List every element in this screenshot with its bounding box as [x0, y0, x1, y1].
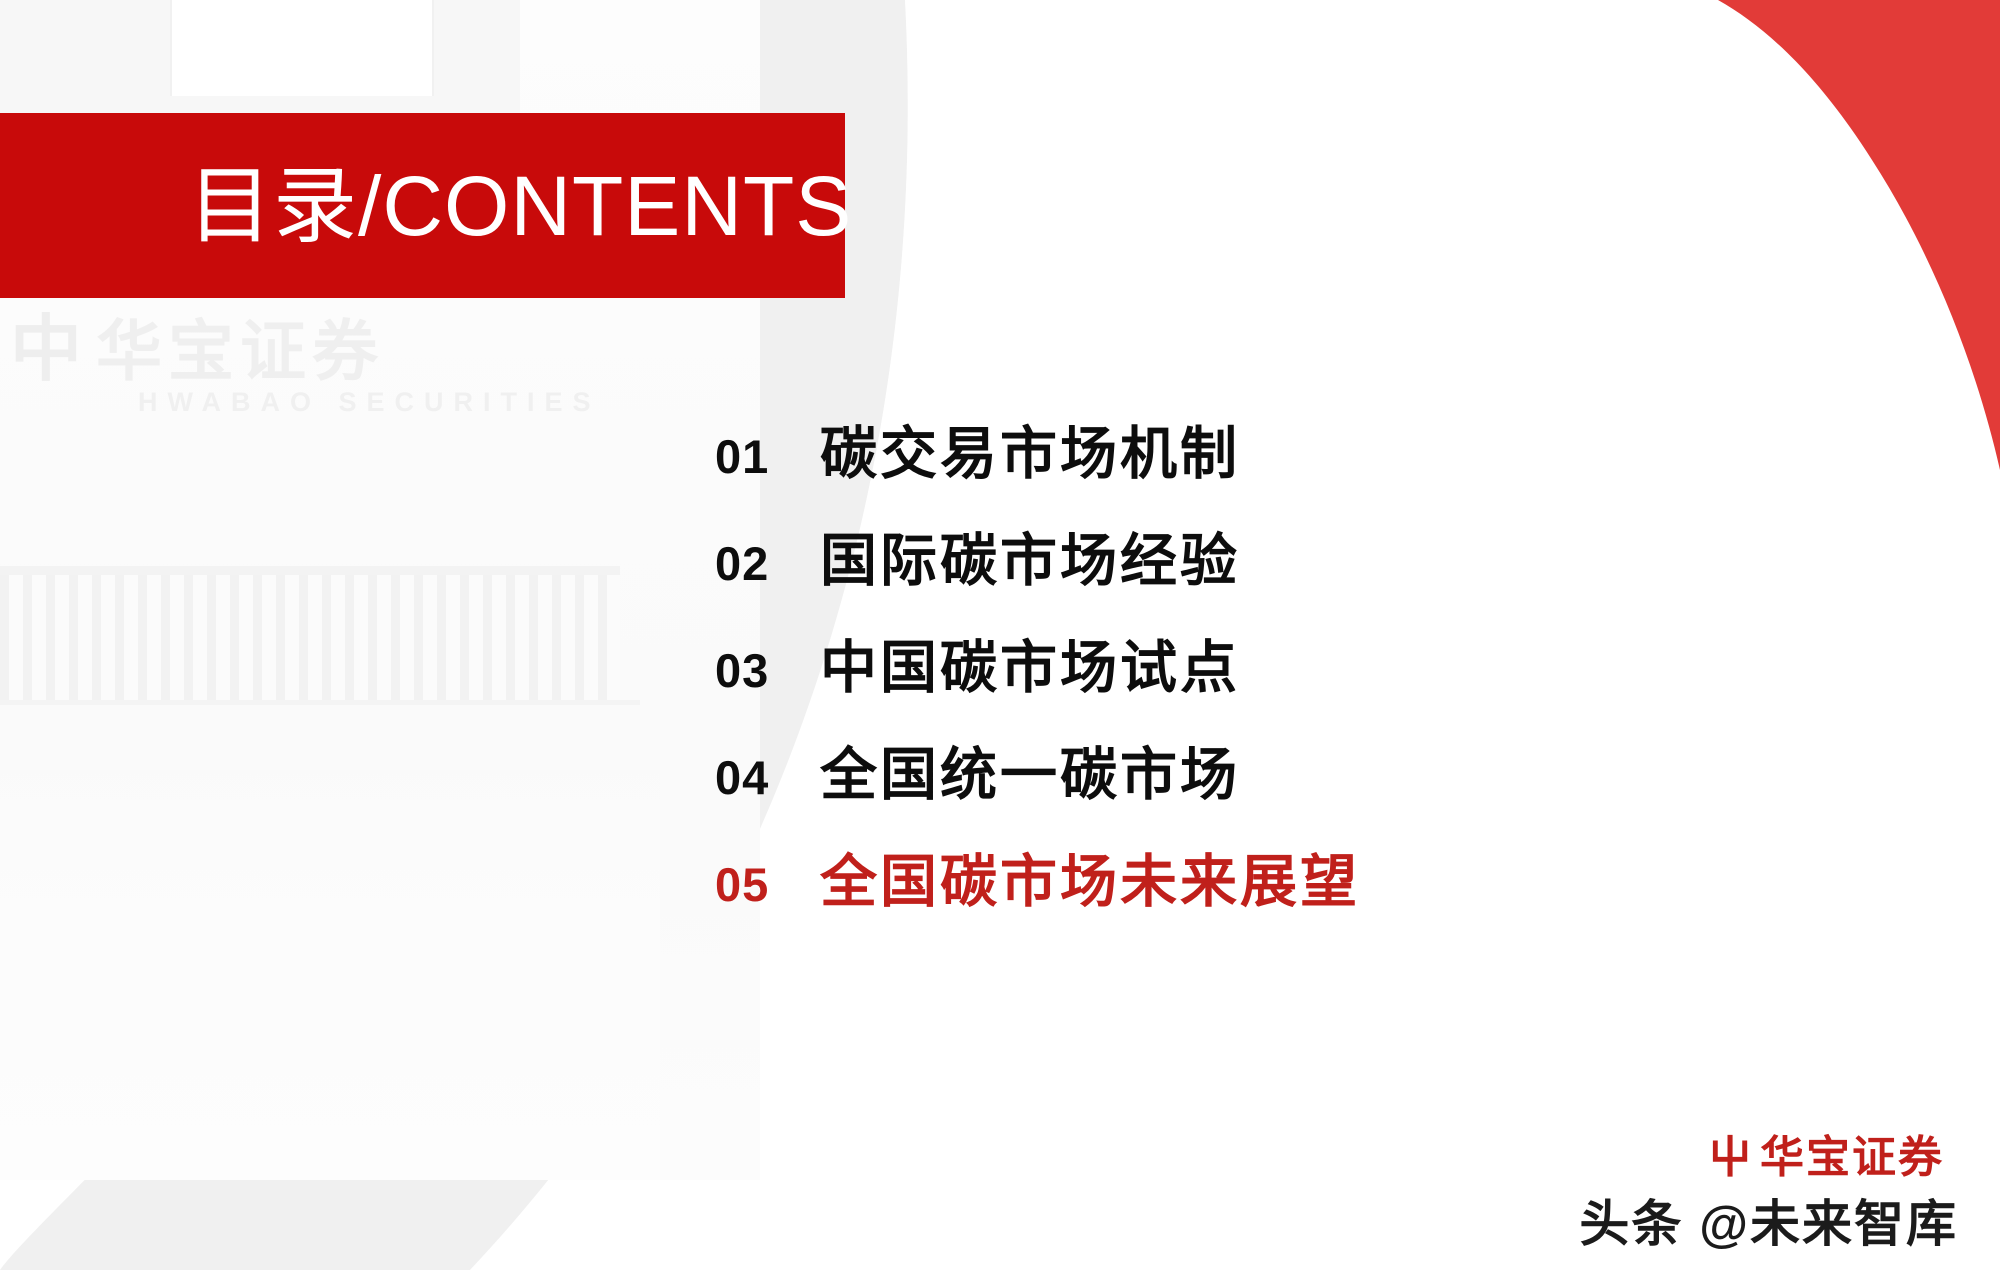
brand-logo: 屮 华宝证券 — [1708, 1136, 1944, 1180]
contents-item-03[interactable]: 03 中国碳市场试点 — [715, 622, 1360, 729]
slide-canvas: 中 华宝证券 HWABAO SECURITIES 目录/CONTENTS 01 … — [0, 0, 2000, 1270]
contents-list: 01 碳交易市场机制 02 国际碳市场经验 03 中国碳市场试点 04 全国统一… — [715, 408, 1360, 943]
contents-item-number: 01 — [715, 429, 820, 484]
photo-building-window — [170, 0, 434, 96]
watermark-logo-mark: 中 — [10, 318, 78, 383]
contents-item-label: 碳交易市场机制 — [820, 408, 1240, 490]
brand-logo-mark: 屮 — [1708, 1136, 1748, 1180]
contents-item-02[interactable]: 02 国际碳市场经验 — [715, 515, 1360, 622]
title-banner: 目录/CONTENTS — [0, 113, 845, 298]
contents-item-01[interactable]: 01 碳交易市场机制 — [715, 408, 1360, 515]
contents-item-label: 全国统一碳市场 — [820, 729, 1240, 811]
contents-item-04[interactable]: 04 全国统一碳市场 — [715, 729, 1360, 836]
photo-railing — [0, 575, 620, 705]
contents-item-label: 国际碳市场经验 — [820, 515, 1240, 597]
footer-watermark: 头条 @未来智库 — [1579, 1184, 1958, 1256]
page-title: 目录/CONTENTS — [188, 164, 852, 248]
contents-item-label: 全国碳市场未来展望 — [820, 836, 1360, 918]
contents-item-05[interactable]: 05 全国碳市场未来展望 — [715, 836, 1360, 943]
photo-floor — [0, 705, 660, 1180]
contents-item-number: 05 — [715, 857, 820, 912]
brand-logo-chinese: 华宝证券 — [1760, 1136, 1944, 1180]
watermark-logo-english: HWABAO SECURITIES — [138, 387, 601, 418]
watermark-logo-chinese: 华宝证券 — [96, 320, 384, 383]
contents-item-label: 中国碳市场试点 — [820, 622, 1240, 704]
watermark-hwabao-logo: 中 华宝证券 HWABAO SECURITIES — [10, 318, 601, 418]
contents-item-number: 02 — [715, 536, 820, 591]
red-arc-shape — [1718, 0, 2000, 470]
contents-item-number: 03 — [715, 643, 820, 698]
contents-item-number: 04 — [715, 750, 820, 805]
